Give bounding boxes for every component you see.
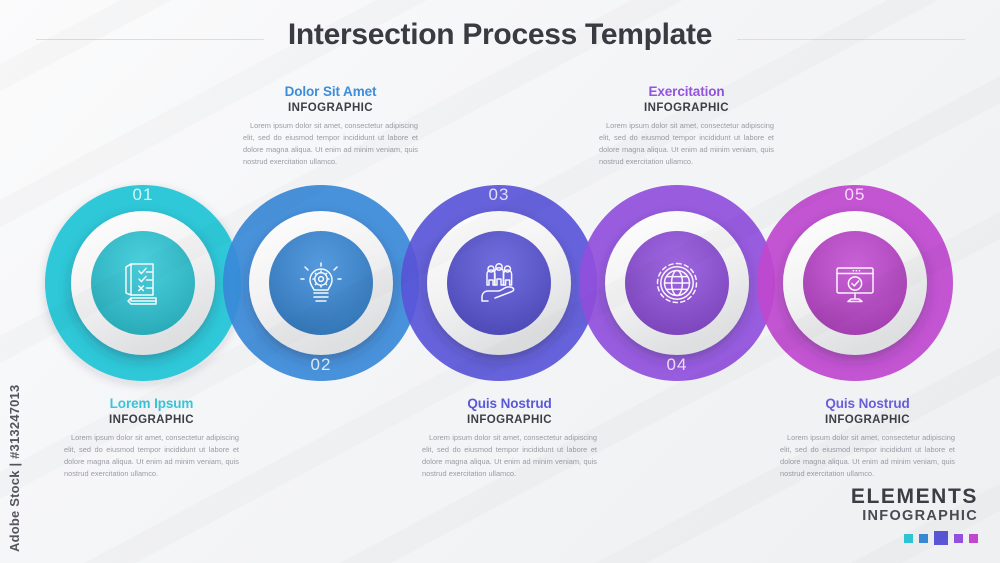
brand-line-1: ELEMENTS xyxy=(851,486,978,508)
brand-line-2: INFOGRAPHIC xyxy=(851,508,978,525)
step-number-04: 04 xyxy=(579,355,775,375)
step-number-03: 03 xyxy=(401,185,597,205)
step-heading-05: Quis Nostrud xyxy=(780,396,955,413)
step-number-05: 05 xyxy=(757,185,953,205)
swatch-4 xyxy=(954,534,963,543)
swatch-5 xyxy=(969,534,978,543)
step-subtitle-02: INFOGRAPHIC xyxy=(243,102,418,114)
step-body-04: Lorem ipsum dolor sit amet, consectetur … xyxy=(599,120,774,168)
step-number-01: 01 xyxy=(45,185,241,205)
step-number-02: 02 xyxy=(223,355,419,375)
step-body-02: Lorem ipsum dolor sit amet, consectetur … xyxy=(243,120,418,168)
stock-watermark: Adobe Stock | #313247013 xyxy=(7,385,22,552)
step-text-block-05: Quis Nostrud INFOGRAPHIC Lorem ipsum dol… xyxy=(780,396,955,480)
step-subtitle-05: INFOGRAPHIC xyxy=(780,414,955,426)
step-text-block-03: Quis Nostrud INFOGRAPHIC Lorem ipsum dol… xyxy=(422,396,597,480)
brand-swatches xyxy=(851,531,978,545)
step-text-block-02: Dolor Sit Amet INFOGRAPHIC Lorem ipsum d… xyxy=(243,84,418,168)
step-heading-04: Exercitation xyxy=(599,84,774,101)
infographic-canvas: Intersection Process Template xyxy=(0,0,1000,563)
step-heading-03: Quis Nostrud xyxy=(422,396,597,413)
step-body-05: Lorem ipsum dolor sit amet, consectetur … xyxy=(780,432,955,480)
step-subtitle-03: INFOGRAPHIC xyxy=(422,414,597,426)
step-text-block-01: Lorem Ipsum INFOGRAPHIC Lorem ipsum dolo… xyxy=(64,396,239,480)
step-body-03: Lorem ipsum dolor sit amet, consectetur … xyxy=(422,432,597,480)
step-heading-02: Dolor Sit Amet xyxy=(243,84,418,101)
step-text-block-04: Exercitation INFOGRAPHIC Lorem ipsum dol… xyxy=(599,84,774,168)
swatch-1 xyxy=(904,534,913,543)
swatch-3 xyxy=(934,531,948,545)
page-title: Intersection Process Template xyxy=(0,18,1000,52)
swatch-2 xyxy=(919,534,928,543)
brand-footer: ELEMENTS INFOGRAPHIC xyxy=(851,486,978,545)
step-heading-01: Lorem Ipsum xyxy=(64,396,239,413)
step-subtitle-04: INFOGRAPHIC xyxy=(599,102,774,114)
step-subtitle-01: INFOGRAPHIC xyxy=(64,414,239,426)
step-body-01: Lorem ipsum dolor sit amet, consectetur … xyxy=(64,432,239,480)
